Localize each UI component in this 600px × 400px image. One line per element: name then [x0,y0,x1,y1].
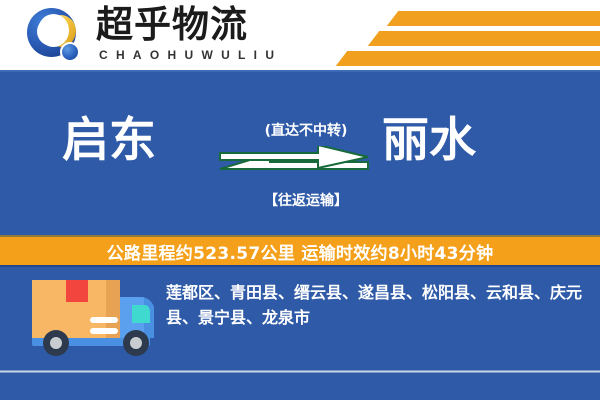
round-trip-note: 【往返运输】 [236,190,376,210]
decorative-stripe-2 [367,30,600,47]
coverage-section: 莲都区、青田县、缙云县、遂昌县、松阳县、云和县、庆元县、景宁县、龙泉市 [0,267,600,400]
circle-crescent-logo-icon [27,8,83,64]
bidirectional-arrow-icon [218,146,370,180]
distance-duration-text: 公路里程约523.57公里 运输时效约8小时43分钟 [107,239,494,264]
logo-accent-dot [60,42,80,62]
destination-city-label: 丽水 [382,112,476,170]
brand-name-pinyin: CHAOHUWULIU [99,48,282,62]
header-bar: 超乎物流 CHAOHUWULIU [0,0,600,72]
delivery-truck-icon [28,277,158,362]
route-section: 启东 (直达不中转) 【往返运输】 丽水 [0,72,600,235]
distance-duration-bar: 公路里程约523.57公里 运输时效约8小时43分钟 [0,235,600,267]
logistics-route-banner: 超乎物流 CHAOHUWULIU 启东 (直达不中转) 【往返运输】 丽水 公路… [0,0,600,400]
logo-crescent-mask [38,14,69,47]
decorative-stripe-3 [335,50,600,67]
coverage-areas-text: 莲都区、青田县、缙云县、遂昌县、松阳县、云和县、庆元县、景宁县、龙泉市 [166,280,586,330]
decorative-stripe-1 [386,10,600,27]
road-divider-line [0,370,600,373]
direct-shipping-note: (直达不中转) [236,120,376,140]
brand-name-chinese: 超乎物流 [96,4,248,46]
origin-city-label: 启东 [62,112,156,170]
